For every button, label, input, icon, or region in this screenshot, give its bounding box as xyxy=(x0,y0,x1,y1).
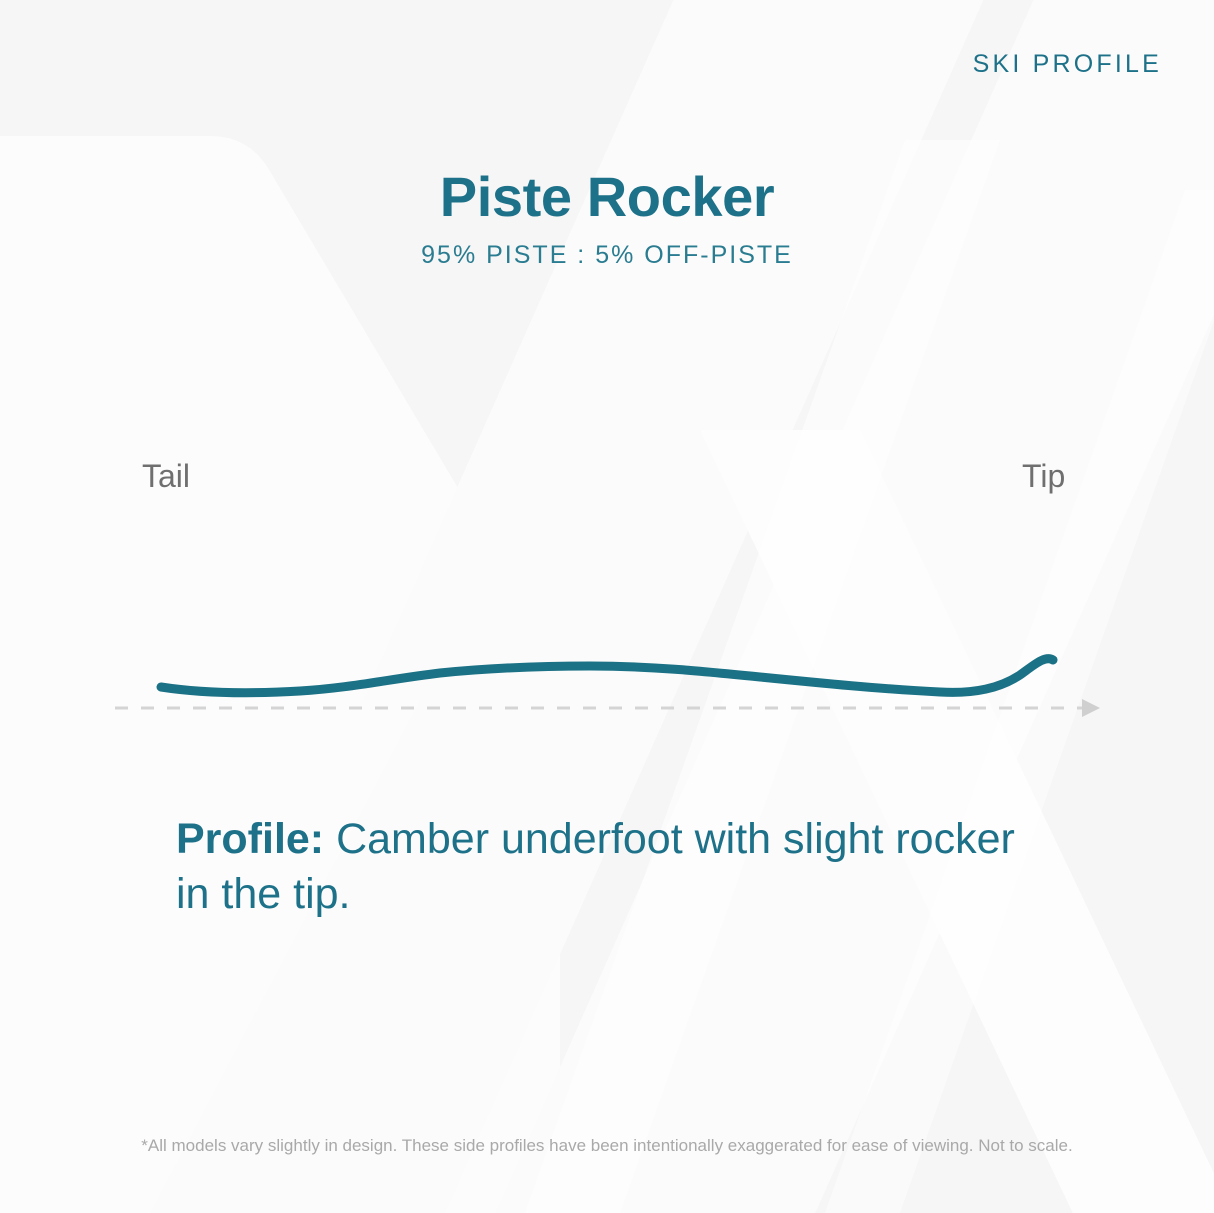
page-subtitle: 95% PISTE : 5% OFF-PISTE xyxy=(0,241,1214,270)
footnote-disclaimer: *All models vary slightly in design. The… xyxy=(0,1136,1214,1156)
ski-profile-card: SKI PROFILE Piste Rocker 95% PISTE : 5% … xyxy=(0,0,1214,1213)
header-eyebrow-label: SKI PROFILE xyxy=(973,50,1162,79)
profile-description-label: Profile: xyxy=(176,815,324,863)
profile-description: Profile: Camber underfoot with slight ro… xyxy=(176,812,1016,922)
title-block: Piste Rocker 95% PISTE : 5% OFF-PISTE xyxy=(0,168,1214,270)
ski-profile-diagram xyxy=(0,560,1214,780)
page-title: Piste Rocker xyxy=(0,168,1214,227)
tail-label: Tail xyxy=(142,458,190,495)
ski-profile-curve xyxy=(161,659,1053,693)
arrow-right-icon xyxy=(1082,699,1100,717)
tip-label: Tip xyxy=(1022,458,1065,495)
